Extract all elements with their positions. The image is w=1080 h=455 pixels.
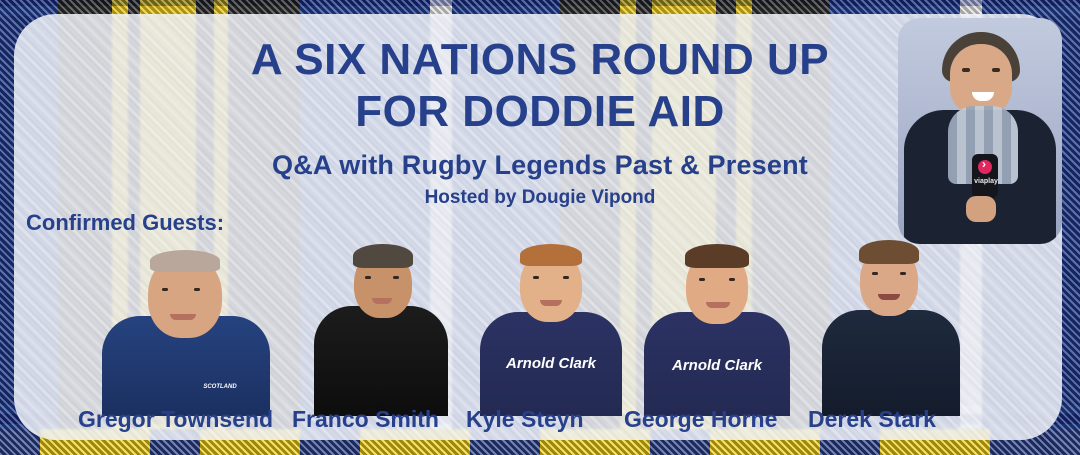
- guest-eye-left: [872, 272, 878, 275]
- guest-name-labels: Gregor Townsend Franco Smith Kyle Steyn …: [0, 399, 1080, 433]
- guest-eye-right: [900, 272, 906, 275]
- guest-name-derek-stark: Derek Stark: [808, 406, 936, 433]
- presenter-photo-dougie-vipond: viaplay: [898, 18, 1062, 244]
- guest-eye-right: [393, 276, 399, 279]
- guest-mouth: [372, 298, 392, 304]
- guest-portraits-row: SCOTLAND Arnold Clark: [0, 236, 1080, 416]
- guest-hair: [685, 244, 749, 268]
- presenter-eye-left: [962, 68, 970, 72]
- guest-portrait-kyle-steyn: Arnold Clark: [470, 236, 630, 416]
- doddie-aid-promo-banner: A SIX NATIONS ROUND UP FOR DODDIE AID Q&…: [0, 0, 1080, 455]
- guest-jersey-text: Arnold Clark: [672, 358, 762, 374]
- guest-eye-right: [194, 288, 200, 291]
- guest-name-kyle-steyn: Kyle Steyn: [466, 406, 584, 433]
- confirmed-guests-label: Confirmed Guests:: [26, 210, 224, 236]
- guest-hair: [150, 250, 220, 272]
- guest-eye-left: [533, 276, 539, 279]
- guest-mouth: [878, 294, 900, 300]
- guest-eye-right: [563, 276, 569, 279]
- guest-eye-right: [729, 278, 735, 281]
- microphone-brand-label: viaplay: [968, 178, 1004, 185]
- guest-mouth: [170, 314, 196, 320]
- guest-mouth: [540, 300, 562, 306]
- guest-eye-left: [162, 288, 168, 291]
- viaplay-logo-icon: [978, 160, 992, 174]
- guest-mouth: [706, 302, 730, 308]
- guest-portrait-franco-smith: [306, 236, 456, 416]
- guest-name-george-horne: George Horne: [624, 406, 777, 433]
- guest-eye-left: [699, 278, 705, 281]
- guest-eye-left: [365, 276, 371, 279]
- guest-portrait-gregor-townsend: SCOTLAND: [88, 236, 284, 416]
- guest-name-franco-smith: Franco Smith: [292, 406, 439, 433]
- guest-hair: [520, 244, 582, 266]
- guest-name-gregor-townsend: Gregor Townsend: [78, 406, 273, 433]
- guest-jersey-text: Arnold Clark: [506, 356, 596, 372]
- guest-jersey-text: SCOTLAND: [190, 384, 250, 390]
- presenter-hand: [966, 196, 996, 222]
- guest-hair: [353, 244, 413, 268]
- presenter-eye-right: [992, 68, 1000, 72]
- guest-portrait-derek-stark: [816, 236, 966, 416]
- guest-hair: [859, 240, 919, 264]
- guest-portrait-george-horne: Arnold Clark: [630, 236, 800, 416]
